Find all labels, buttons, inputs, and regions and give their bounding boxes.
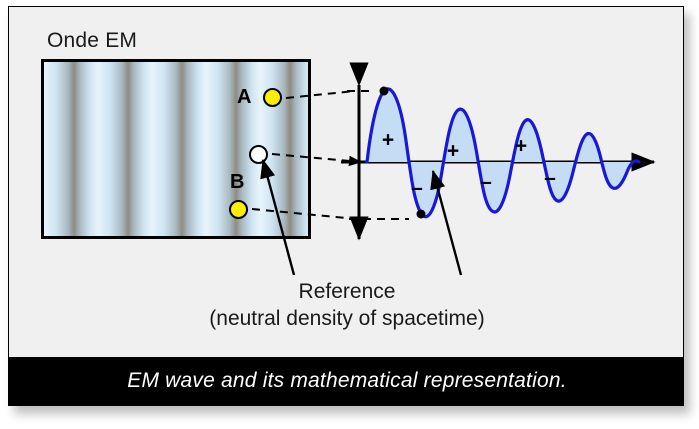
sign-plus-2: + — [447, 141, 459, 162]
em-field-box — [41, 59, 311, 239]
sign-minus-1: – — [411, 178, 423, 199]
panel-title: Onde EM — [47, 29, 137, 53]
sign-minus-3: – — [544, 168, 556, 189]
wave-crest-dot — [380, 87, 389, 96]
label-b: B — [230, 171, 244, 194]
annotation-line-1: Reference — [9, 279, 684, 306]
trough-marker-b[interactable] — [229, 200, 248, 219]
annotation-line-2: (neutral density of spacetime) — [9, 306, 684, 333]
figure-root: Onde EM A B — [0, 0, 699, 429]
sign-minus-2: – — [480, 172, 492, 193]
caption-bar: EM wave and its mathematical representat… — [9, 357, 684, 405]
sign-plus-1: + — [382, 130, 394, 151]
figure-frame: Onde EM A B — [8, 6, 684, 406]
label-a: A — [237, 86, 251, 109]
crest-marker-a[interactable] — [263, 88, 282, 107]
wave-curve — [367, 89, 639, 217]
annotation-block: Reference (neutral density of spacetime) — [9, 279, 684, 333]
reference-marker[interactable] — [249, 145, 268, 164]
wave-fill — [367, 89, 639, 217]
sign-plus-3: + — [515, 136, 527, 157]
wave-trough-dot — [417, 210, 426, 219]
annotation-pointer-wave — [433, 171, 461, 275]
caption-text: EM wave and its mathematical representat… — [127, 369, 567, 393]
